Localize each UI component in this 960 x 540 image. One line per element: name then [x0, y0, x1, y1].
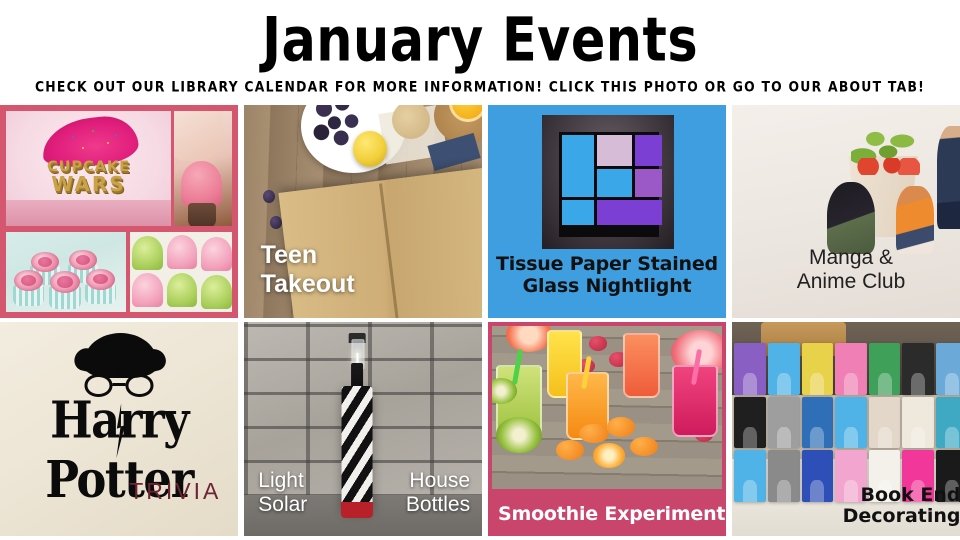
glass-pane [562, 200, 594, 225]
kumquat [556, 440, 584, 460]
smoothie-photo [492, 326, 722, 489]
kumquat [607, 417, 635, 437]
collage-bottom-row [6, 232, 232, 312]
cupcake-wars-line2: WARS [19, 175, 158, 194]
event-tile-stained-glass-nightlight[interactable]: Tissue Paper Stained Glass Nightlight [488, 105, 726, 318]
nightlight-line2: Glass Nightlight [523, 275, 692, 297]
bookend [734, 343, 766, 394]
cupcake-collage: CUPCAKE WARS [6, 111, 232, 312]
bookend [734, 397, 766, 448]
glass-pane [597, 135, 632, 166]
lighthouse-caption-left: Light Solar [258, 469, 307, 517]
glasses-lens-left [84, 374, 112, 396]
bookend [936, 343, 960, 394]
rose-cupcakes-photo [6, 232, 126, 312]
manga-caption: Manga & Anime Club [732, 246, 960, 294]
bookend-line2: Decorating [843, 505, 960, 527]
page-title: January Events [262, 9, 698, 73]
nightlight-photo [542, 115, 674, 249]
red-flowers [846, 158, 920, 175]
caption-right-line1: House [409, 469, 470, 492]
event-tile-book-end-decorating[interactable]: Book End Decorating [732, 322, 960, 536]
bookend [835, 343, 867, 394]
caption-left-line2: Solar [258, 493, 307, 516]
kumquat [630, 437, 658, 457]
bookend [802, 397, 834, 448]
glasses-bridge [112, 383, 126, 386]
cupcake-hand-photo [174, 111, 232, 226]
bookend [936, 397, 960, 448]
bookend [768, 343, 800, 394]
trivia-label: TRIVIA [129, 478, 221, 505]
cracker-icon [392, 105, 430, 139]
bookend [835, 397, 867, 448]
glass-pane [562, 135, 594, 197]
teen-takeout-line1: Teen [261, 241, 318, 269]
round-glasses-icon [84, 374, 153, 396]
smoothie-bottle-coral [623, 333, 660, 398]
page-subtitle: CHECK OUT OUR LIBRARY CALENDAR FOR MORE … [35, 78, 925, 95]
collage-top-row: CUPCAKE WARS [6, 111, 232, 226]
caption-right-line2: Bottles [406, 493, 470, 516]
events-grid: CUPCAKE WARS [0, 105, 960, 540]
manga-line1: Manga & [809, 246, 893, 269]
january-events-poster: January Events CHECK OUT OUR LIBRARY CAL… [0, 0, 960, 540]
bottle-red-base [341, 502, 373, 518]
orange-slice [593, 443, 625, 467]
teen-takeout-caption: Teen Takeout [261, 241, 355, 298]
hand-shape [174, 111, 223, 161]
bookend-caption: Book End Decorating [843, 485, 960, 528]
bookend [802, 450, 834, 501]
kumquat [579, 424, 609, 444]
bookend [902, 397, 934, 448]
glass-pane [635, 135, 662, 166]
event-tile-lighthouse-solar-bottles[interactable]: Light Solar House Bottles [244, 322, 482, 536]
bookend [802, 343, 834, 394]
bookend [869, 343, 901, 394]
grapefruit-half [506, 326, 552, 352]
event-tile-cupcake-wars[interactable]: CUPCAKE WARS [0, 105, 238, 318]
cupcake-wars-sign-photo: CUPCAKE WARS [6, 111, 171, 226]
bookend [734, 450, 766, 501]
smoothie-caption-text: Smoothie Experiment Night g [488, 503, 726, 525]
bookend [869, 397, 901, 448]
teen-takeout-line2: Takeout [261, 270, 355, 298]
bookend [902, 343, 934, 394]
raspberry-cupcake [181, 161, 221, 207]
nightlight-caption: Tissue Paper Stained Glass Nightlight [488, 254, 726, 297]
harry-hair-icon [84, 333, 158, 378]
figurine-standing [937, 126, 960, 228]
lighthouse-caption-right: House Bottles [406, 469, 470, 517]
glasses-lens-right [126, 374, 154, 396]
glass-pane [597, 200, 662, 225]
caption-left-line1: Light [258, 469, 304, 492]
nightlight-line1: Tissue Paper Stained [496, 253, 718, 275]
event-tile-smoothie-experiment-night[interactable]: Smoothie Experiment Night g [488, 322, 726, 536]
figurine-dark-hair [827, 182, 875, 254]
bookend [768, 450, 800, 501]
cupcake-wars-wordmark: CUPCAKE WARS [19, 161, 158, 193]
bookends-display [734, 343, 960, 501]
sprinkle-cupcakes-photo [130, 232, 232, 312]
figurine-orange-hair [896, 186, 934, 254]
raspberry [589, 336, 607, 351]
manga-line2: Anime Club [797, 270, 906, 293]
apple-icon [353, 131, 386, 167]
event-tile-teen-takeout[interactable]: Teen Takeout [244, 105, 482, 318]
striped-bottle-body [342, 386, 373, 510]
bookend-line1: Book End [861, 484, 960, 506]
kiwi-slice [496, 417, 542, 453]
poster-header: January Events CHECK OUT OUR LIBRARY CAL… [0, 0, 960, 105]
glass-pane [635, 169, 662, 198]
smoothie-caption-band: Smoothie Experiment Night g [488, 491, 726, 536]
stained-glass-panel [559, 132, 659, 237]
bookend [768, 397, 800, 448]
event-tile-manga-anime-club[interactable]: Manga & Anime Club [732, 105, 960, 318]
event-tile-harry-potter-trivia[interactable]: Harry Potter TRIVIA [0, 322, 238, 536]
glass-pane [597, 169, 632, 198]
